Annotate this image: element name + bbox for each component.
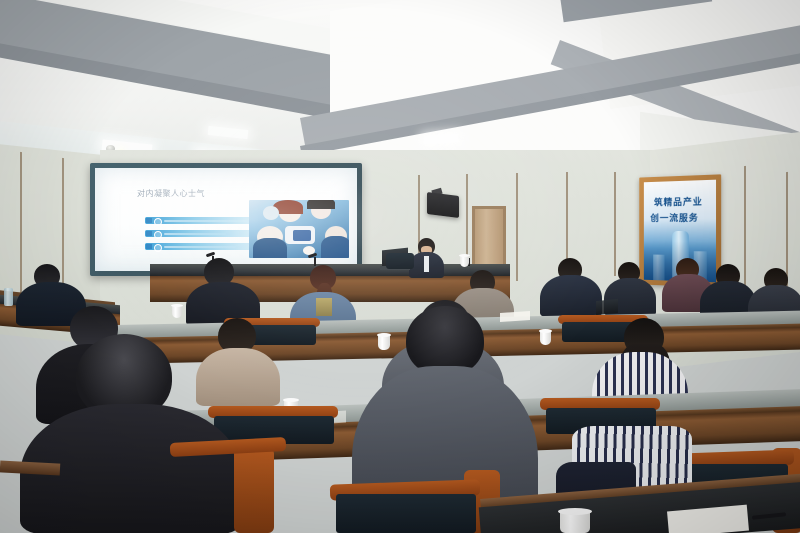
- bullet-number-badge: [154, 231, 162, 239]
- bullet-marker-icon: [146, 218, 152, 223]
- attendee-body: [540, 275, 602, 317]
- slide-photo: [249, 200, 349, 258]
- attendee-inner-top: [316, 298, 332, 316]
- slide-bullet-2: [145, 230, 253, 237]
- wall-speaker: [427, 192, 459, 218]
- bullet-marker-icon: [146, 244, 152, 249]
- slide-bullet-3: [145, 243, 253, 250]
- chair-arm: [234, 448, 274, 533]
- wall-trim: [614, 172, 616, 276]
- presenter-chair: [386, 253, 414, 269]
- bullet-number-badge: [154, 218, 162, 226]
- paper-cup-rim: [283, 398, 299, 402]
- paper-cup-rim: [539, 329, 552, 333]
- bullet-number-badge: [154, 244, 162, 252]
- paper-cup-rim: [459, 254, 470, 257]
- water-bottle: [4, 288, 13, 306]
- microphone: [314, 257, 316, 266]
- foreground-desk-edge-left: [0, 460, 60, 475]
- paper-cup-rim: [377, 333, 391, 337]
- poster-line-1: 筑精品产业: [654, 194, 703, 208]
- slide-title: 对内凝聚人心士气: [137, 188, 205, 199]
- wall-trim: [516, 173, 518, 281]
- attendee-laptop: [596, 299, 618, 315]
- slide-bullet-2-text: [164, 233, 226, 235]
- paper-cup-rim: [558, 508, 592, 515]
- bullet-marker-icon: [146, 231, 152, 236]
- conference-room-photo: 对内凝聚人心士气: [0, 0, 800, 533]
- slide-bullet-3-text: [164, 246, 236, 248]
- poster-line-2: 创一流服务: [650, 211, 698, 224]
- wall-trim: [786, 172, 788, 290]
- paper-cup-rim: [171, 304, 183, 307]
- presenter-shirt: [424, 256, 429, 272]
- slide-bullet-1-text: [164, 220, 248, 222]
- slide-bullet-1: [145, 217, 253, 224]
- attendee-body: [196, 348, 280, 406]
- chair-back: [336, 494, 476, 533]
- projection-screen: 对内凝聚人心士气: [95, 168, 357, 271]
- wall-trim: [744, 166, 746, 286]
